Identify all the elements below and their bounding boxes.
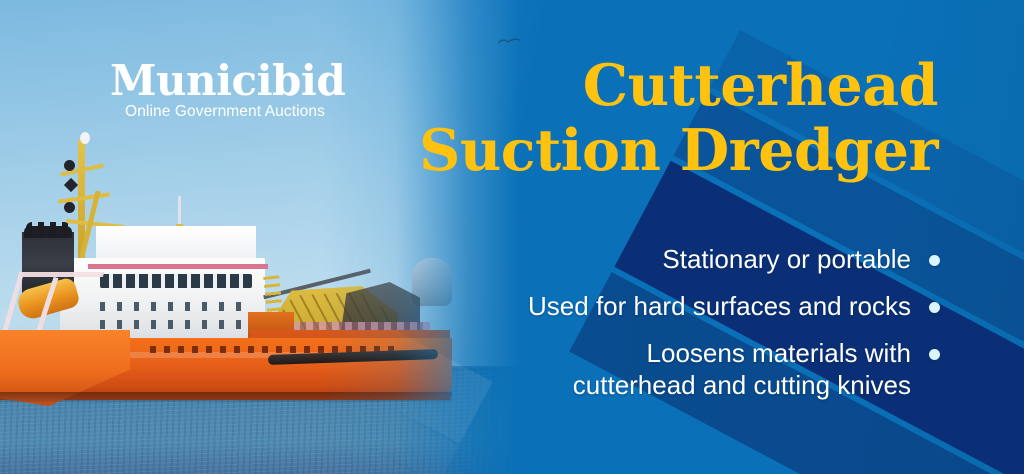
mast-dayshape-ball-lower (64, 202, 75, 213)
bridge-windows (100, 274, 252, 288)
page-title: Cutterhead Suction Dredger (338, 54, 938, 184)
brand-logo[interactable]: Municibid Online Government Auctions (110, 60, 340, 121)
feature-list: Stationary or portable Used for hard sur… (420, 244, 940, 417)
bullet-dot-icon (929, 349, 940, 360)
feature-text-2: Used for hard surfaces and rocks (528, 291, 911, 322)
accommodation-windows-upper (100, 302, 250, 311)
accommodation-windows-lower (100, 320, 250, 329)
title-line-1: Cutterhead (338, 54, 938, 119)
funnel-fins (26, 222, 70, 236)
bullet-dot-icon (929, 302, 940, 313)
bridge-deck-rail (88, 264, 268, 269)
list-item: Loosens materials withcutterhead and cut… (420, 338, 940, 400)
brand-name: Municibid (110, 60, 340, 101)
list-item: Stationary or portable (420, 244, 940, 275)
bullet-dot-icon (929, 255, 940, 266)
title-line-2: Suction Dredger (338, 119, 938, 184)
list-item: Used for hard surfaces and rocks (420, 291, 940, 322)
mast-dayshape-ball-upper (64, 160, 75, 171)
feature-text-1: Stationary or portable (662, 244, 911, 275)
feature-text-3: Loosens materials withcutterhead and cut… (573, 338, 911, 400)
brand-tagline: Online Government Auctions (110, 103, 340, 121)
bird-icon (498, 38, 520, 46)
promo-banner: Municibid Online Government Auctions Cut… (0, 0, 1024, 474)
mast-light (80, 132, 90, 144)
hull-waterline-shadow (0, 392, 452, 402)
